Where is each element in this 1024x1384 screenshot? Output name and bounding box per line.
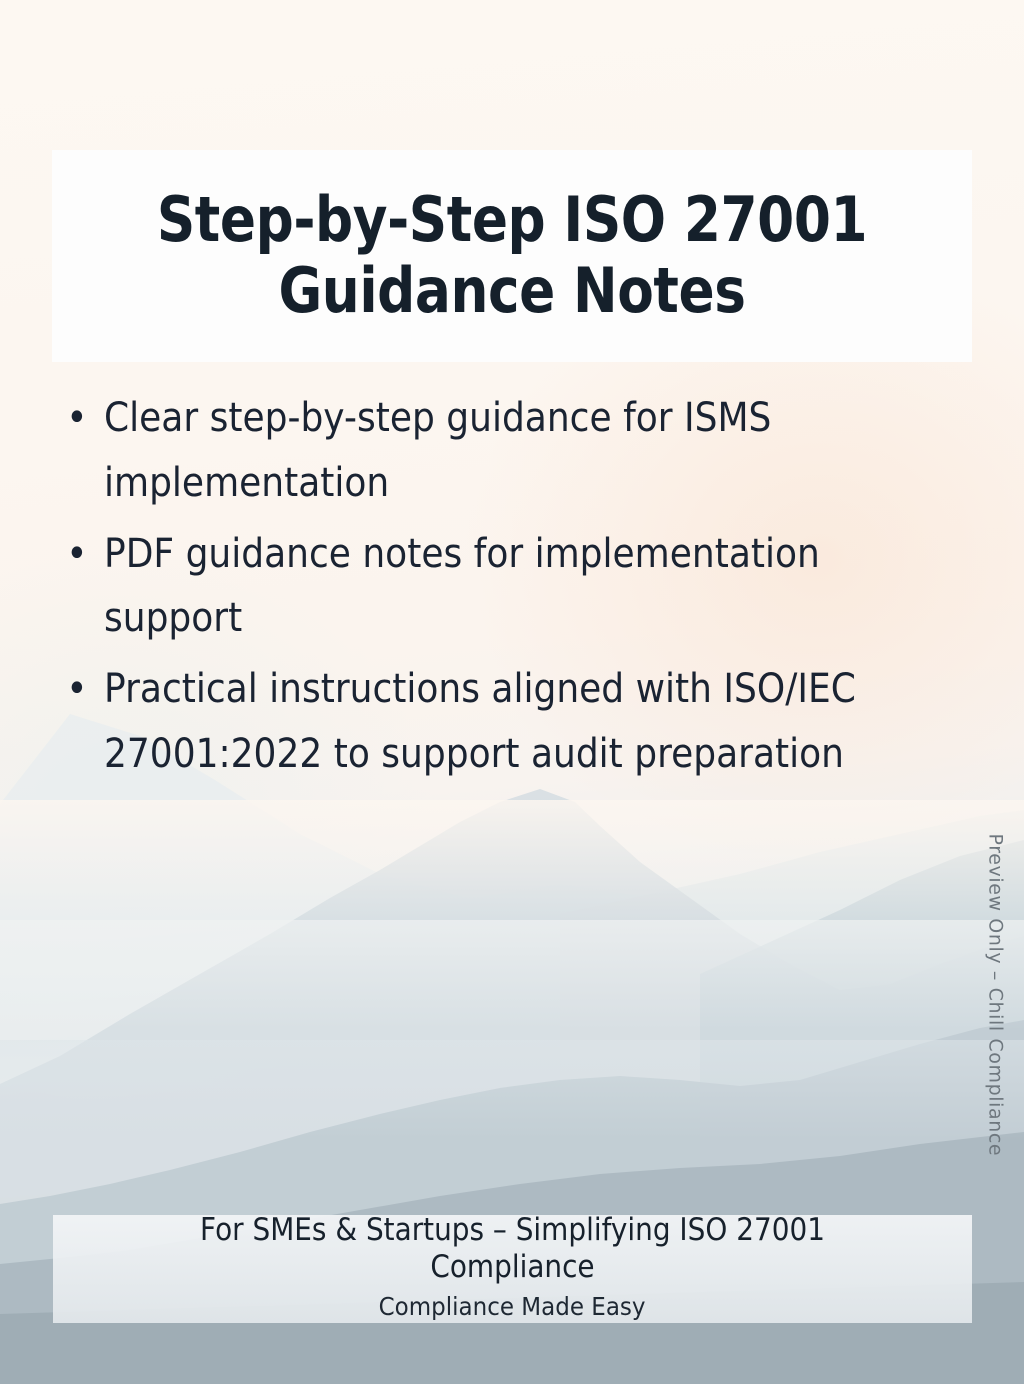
- footer-tagline-secondary: Compliance Made Easy: [379, 1292, 646, 1322]
- title-card: Step-by-Step ISO 27001 Guidance Notes: [52, 150, 972, 362]
- list-item-label: PDF guidance notes for implementation su…: [104, 531, 820, 642]
- slide-canvas: Step-by-Step ISO 27001 Guidance Notes • …: [0, 0, 1024, 1384]
- page-title: Step-by-Step ISO 27001 Guidance Notes: [157, 185, 867, 326]
- list-item: • Practical instructions aligned with IS…: [50, 657, 887, 787]
- list-item-label: Practical instructions aligned with ISO/…: [104, 666, 856, 777]
- list-item-label: Clear step-by-step guidance for ISMS imp…: [104, 395, 771, 506]
- list-item: • Clear step-by-step guidance for ISMS i…: [50, 386, 887, 516]
- feature-bullet-list: • Clear step-by-step guidance for ISMS i…: [50, 386, 980, 793]
- bullet-marker-icon: •: [66, 386, 87, 451]
- list-item: • PDF guidance notes for implementation …: [50, 522, 887, 652]
- footer-card: For SMEs & Startups – Simplifying ISO 27…: [53, 1215, 972, 1323]
- bullet-marker-icon: •: [66, 657, 87, 722]
- bullet-marker-icon: •: [66, 522, 87, 587]
- footer-tagline-primary: For SMEs & Startups – Simplifying ISO 27…: [117, 1212, 908, 1286]
